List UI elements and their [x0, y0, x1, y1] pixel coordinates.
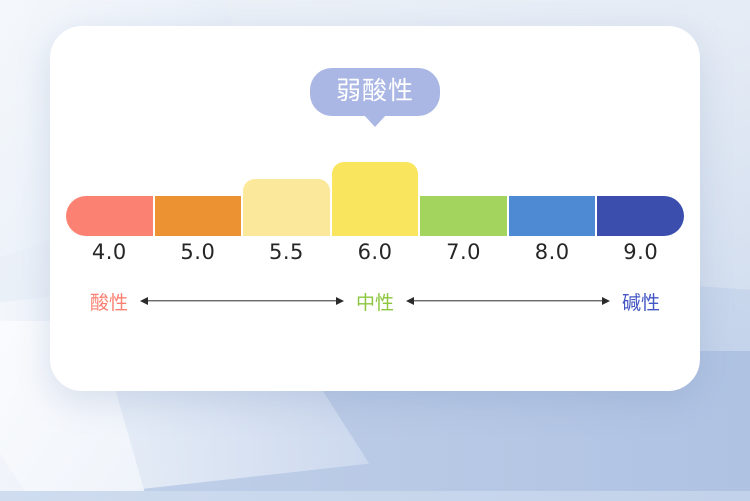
ph-segment-6.0[interactable]	[332, 162, 419, 236]
arrow-line	[413, 300, 603, 301]
arrow-line	[147, 300, 337, 301]
legend-label-alkaline: 碱性	[622, 288, 660, 315]
arrow-right-head-icon	[602, 297, 610, 305]
ph-segment-8.0[interactable]	[509, 196, 596, 236]
ph-tick-label-4.0: 4.0	[66, 240, 153, 264]
ph-segment-5.0[interactable]	[155, 196, 242, 236]
arrow-neutral-to-alkaline	[406, 295, 610, 307]
legend-label-neutral: 中性	[356, 288, 394, 315]
ph-legend: 酸性 中性 碱性	[90, 284, 660, 318]
ph-tick-label-5.0: 5.0	[155, 240, 242, 264]
legend-label-acidic: 酸性	[90, 288, 128, 315]
ph-value-tooltip: 弱酸性	[310, 68, 440, 116]
arrow-acidic-to-neutral	[140, 295, 344, 307]
ph-tick-label-6.0: 6.0	[332, 240, 419, 264]
arrow-right-head-icon	[336, 297, 344, 305]
tooltip-label: 弱酸性	[336, 77, 414, 105]
ph-scale-card: 弱酸性 4.05.05.56.07.08.09.0 酸性 中性 碱性	[50, 26, 700, 391]
tooltip-container: 弱酸性	[50, 68, 700, 116]
ph-segment-5.5[interactable]	[243, 179, 330, 236]
ph-segment-7.0[interactable]	[420, 196, 507, 236]
ph-scale-bar	[66, 126, 684, 236]
ph-segment-4.0[interactable]	[66, 196, 153, 236]
ph-scale-bar-area	[66, 126, 684, 236]
ph-tick-label-8.0: 8.0	[509, 240, 596, 264]
ph-segment-9.0[interactable]	[597, 196, 684, 236]
ph-tick-label-5.5: 5.5	[243, 240, 330, 264]
tooltip-tail-icon	[364, 115, 386, 127]
background-bottom-strip	[0, 491, 750, 501]
ph-tick-label-7.0: 7.0	[420, 240, 507, 264]
ph-tick-label-9.0: 9.0	[597, 240, 684, 264]
ph-tick-labels: 4.05.05.56.07.08.09.0	[66, 240, 684, 264]
